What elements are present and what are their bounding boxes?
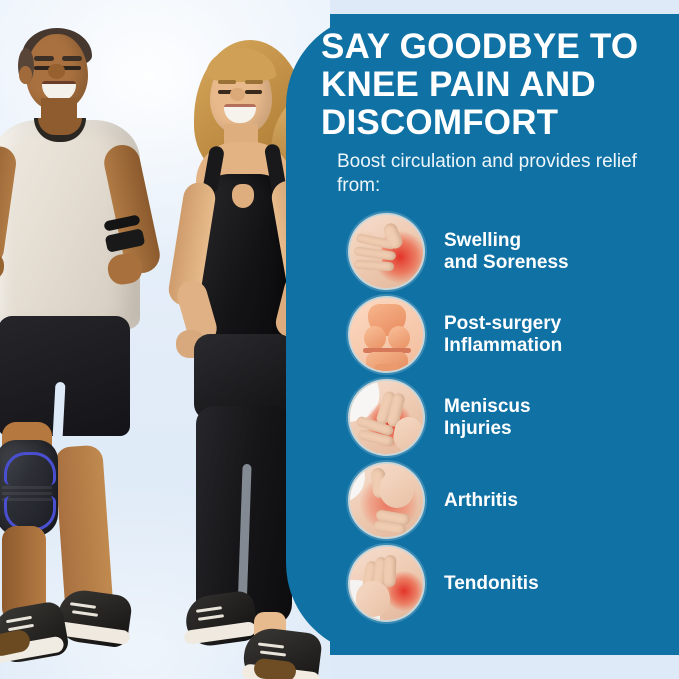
list-item: Swelling and Soreness bbox=[348, 210, 668, 293]
man-brow-right bbox=[62, 56, 82, 61]
man-brow-left bbox=[34, 56, 54, 61]
woman-brow-right bbox=[245, 80, 263, 84]
list-item: Meniscus Injuries bbox=[348, 376, 668, 459]
knee-tendonitis-photo-icon bbox=[348, 545, 425, 622]
benefit-label-line-2: Inflammation bbox=[444, 335, 562, 357]
list-item-label: Tendonitis bbox=[444, 573, 539, 595]
list-item-label: Arthritis bbox=[444, 490, 518, 512]
man-nose bbox=[48, 64, 65, 79]
list-item-label: Swelling and Soreness bbox=[444, 230, 569, 274]
benefits-list: Swelling and Soreness Post-surgery Infla… bbox=[348, 210, 668, 625]
benefit-label-line-1: Tendonitis bbox=[444, 573, 539, 595]
subheading: Boost circulation and provides relief fr… bbox=[337, 150, 637, 198]
benefit-label-line-2: Injuries bbox=[444, 418, 531, 440]
man-shorts bbox=[0, 316, 130, 436]
benefit-label-line-2: and Soreness bbox=[444, 252, 569, 274]
list-item: Tendonitis bbox=[348, 542, 668, 625]
product-ad-image: SAY GOODBYE TO KNEE PAIN AND DISCOMFORT … bbox=[0, 0, 679, 679]
benefit-label-line-1: Meniscus bbox=[444, 396, 531, 418]
benefit-label-line-1: Arthritis bbox=[444, 490, 518, 512]
list-item: Arthritis bbox=[348, 459, 668, 542]
woman-brow-left bbox=[218, 80, 236, 84]
list-item: Post-surgery Inflammation bbox=[348, 293, 668, 376]
list-item-label: Meniscus Injuries bbox=[444, 396, 531, 440]
knee-meniscus-photo-icon bbox=[348, 379, 425, 456]
benefit-label-line-1: Swelling bbox=[444, 230, 569, 252]
man-ear bbox=[19, 66, 32, 84]
page-title: SAY GOODBYE TO KNEE PAIN AND DISCOMFORT bbox=[321, 28, 669, 142]
knee-brace-product bbox=[0, 440, 58, 536]
brace-accent-upper bbox=[4, 452, 56, 485]
woman-nose bbox=[230, 88, 245, 101]
woman-neckline bbox=[232, 184, 254, 208]
benefit-label-line-1: Post-surgery bbox=[444, 313, 562, 335]
knee-anatomy-illustration-icon bbox=[348, 296, 425, 373]
lifestyle-photo bbox=[0, 0, 330, 679]
knee-swelling-photo-icon bbox=[348, 213, 425, 290]
woman-eye-right bbox=[245, 90, 262, 94]
list-item-label: Post-surgery Inflammation bbox=[444, 313, 562, 357]
knee-arthritis-photo-icon bbox=[348, 462, 425, 539]
